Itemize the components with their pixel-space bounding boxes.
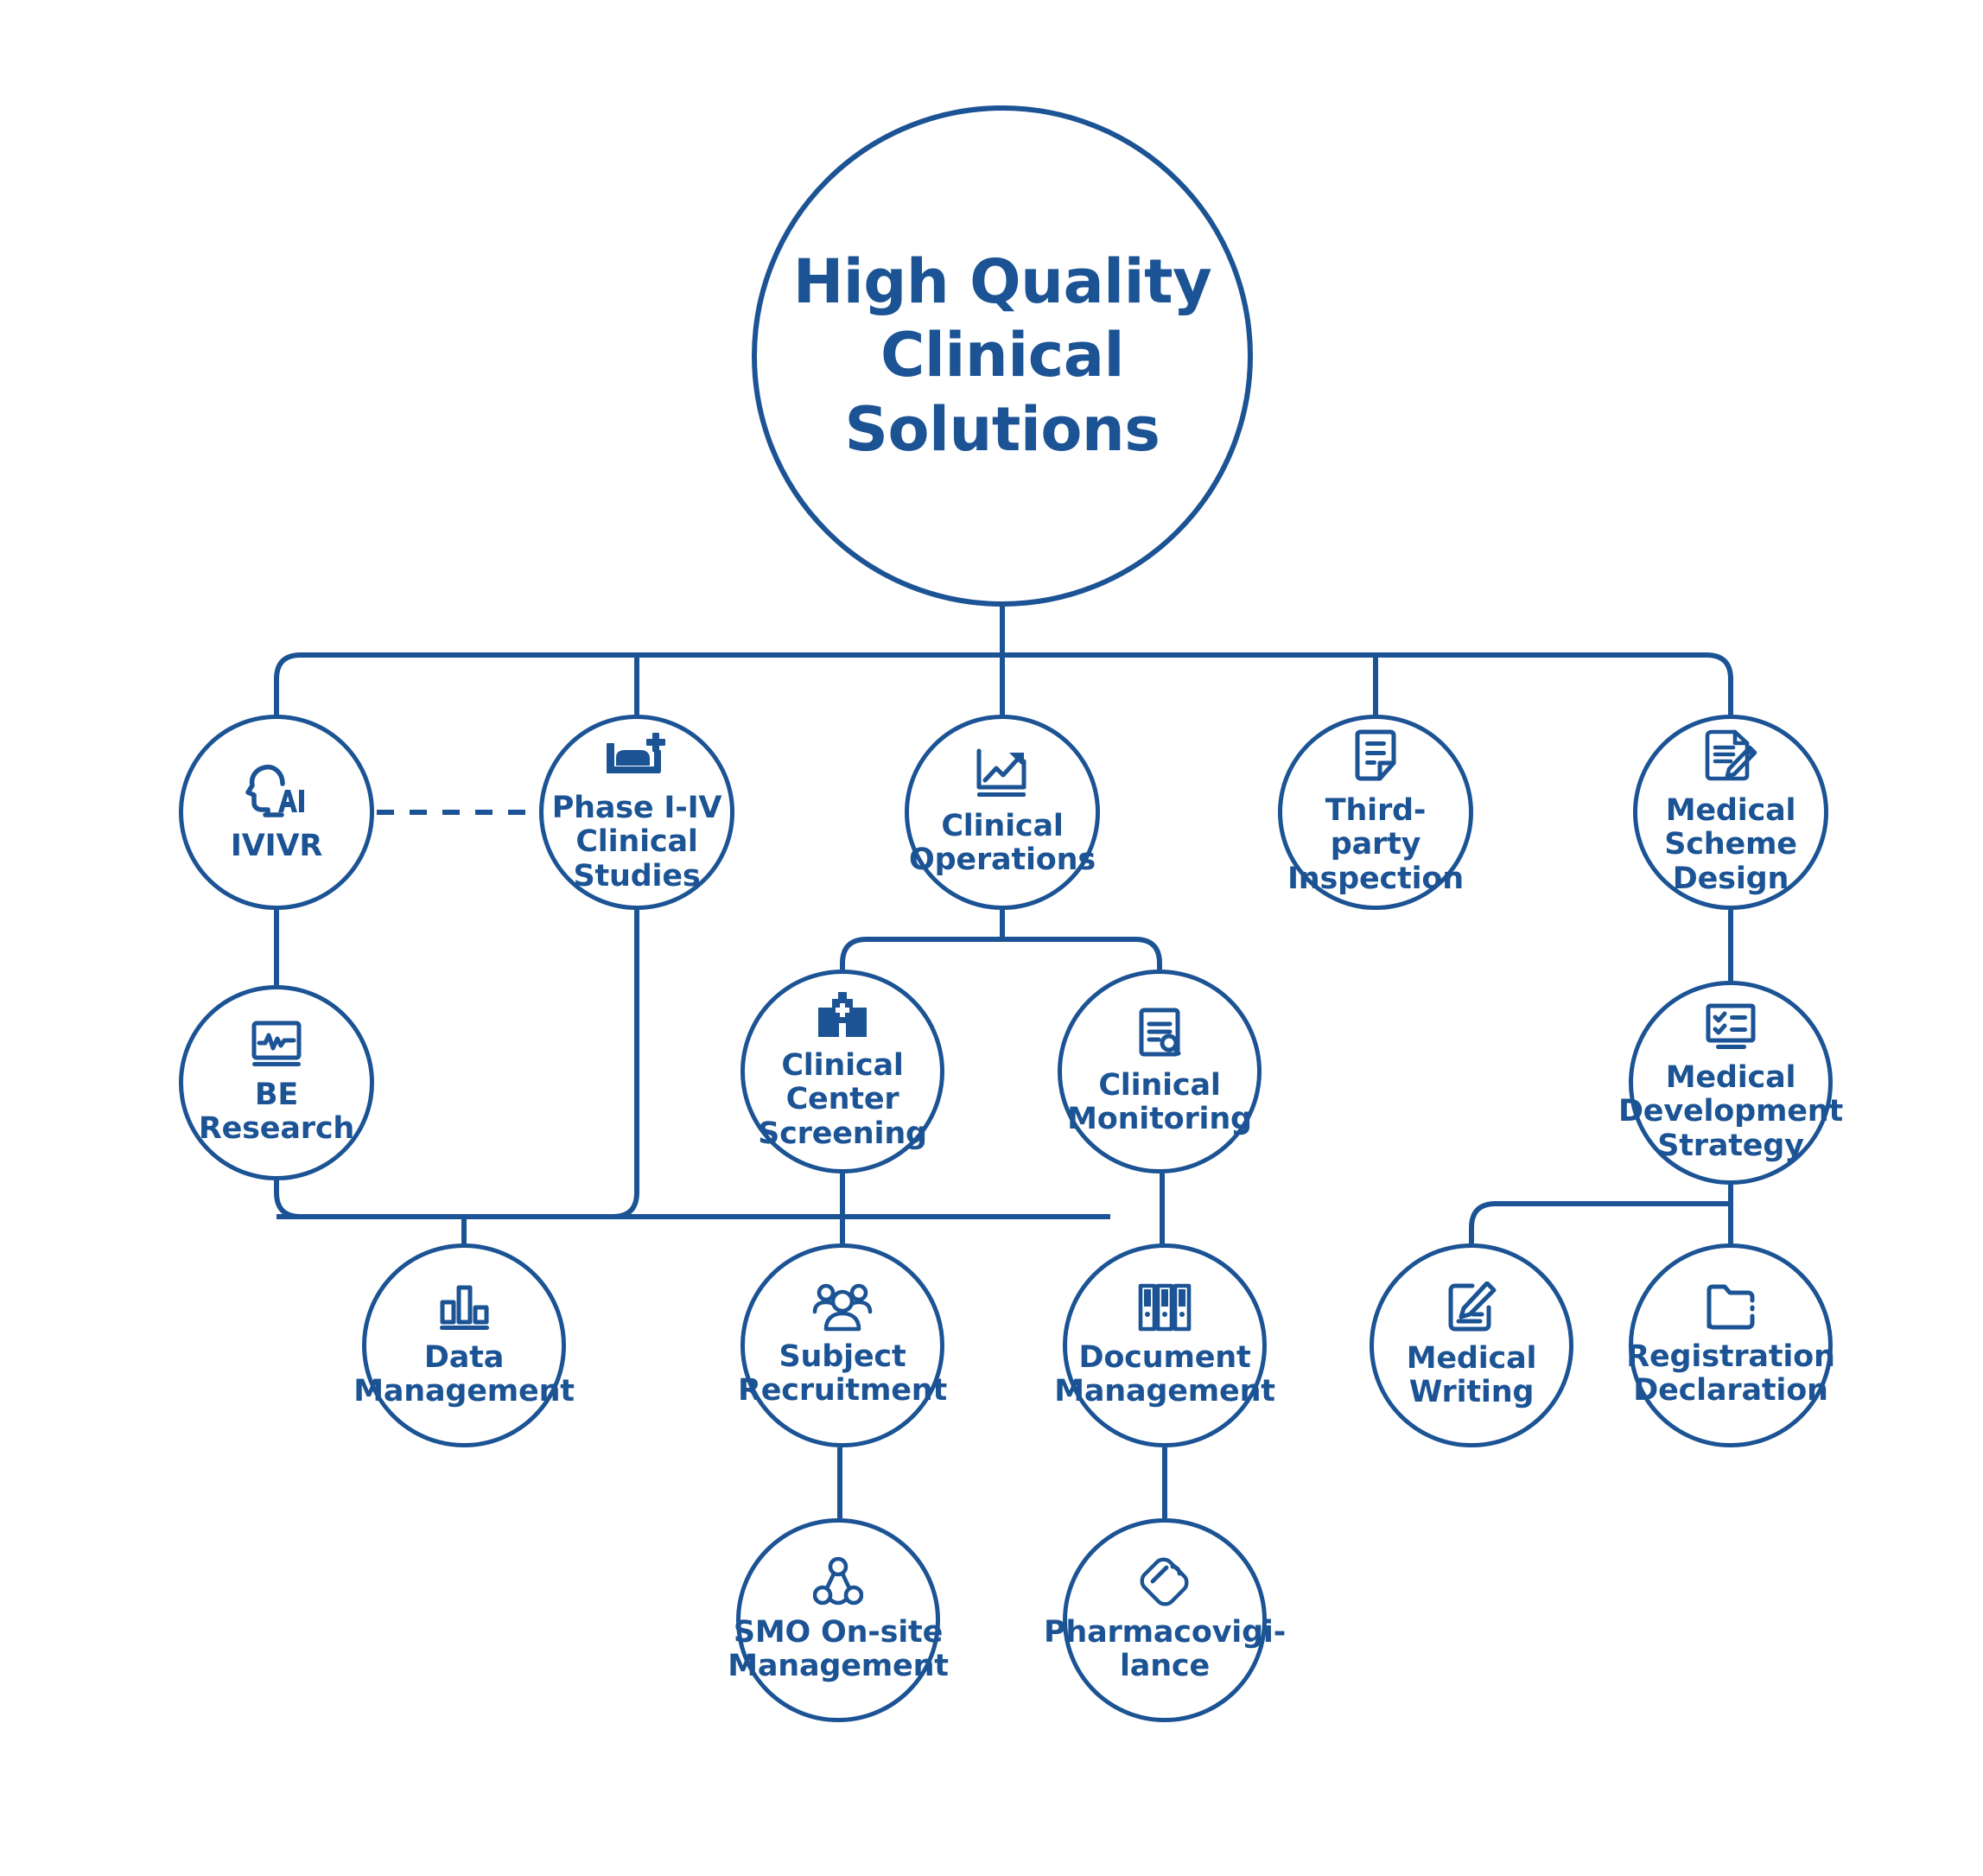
node-smo-label: SMO On-site Management: [728, 1616, 949, 1683]
node-phase-i-iv-clinical-studies[interactable]: Phase I-IV Clinical Studies: [539, 715, 734, 910]
node-medical-writing[interactable]: Medical Writing: [1370, 1243, 1573, 1447]
node-data-management[interactable]: Data Management: [362, 1243, 566, 1447]
node-medical-writing-label: Medical Writing: [1407, 1342, 1537, 1409]
node-ivivr-label: IVIVR: [231, 830, 322, 863]
document-lines-icon: [1352, 728, 1399, 785]
diagram-canvas: High Quality Clinical Solutions IVIVR: [0, 0, 1983, 1876]
binders-icon: [1138, 1282, 1192, 1332]
node-root-label: High Quality Clinical Solutions: [793, 245, 1212, 467]
node-medical-scheme-design-label: Medical Scheme Design: [1664, 794, 1797, 896]
people-group-icon: [812, 1283, 873, 1332]
document-pen-icon: [1702, 728, 1759, 785]
checklist-monitor-icon: [1704, 1002, 1757, 1052]
node-subject-recruitment-label: Subject Recruitment: [738, 1340, 947, 1408]
node-document-management-label: Document Management: [1054, 1341, 1275, 1409]
node-subject-recruitment[interactable]: Subject Recruitment: [740, 1243, 944, 1447]
node-clinical-monitoring[interactable]: Clinical Monitoring: [1058, 970, 1262, 1173]
node-be-research[interactable]: BE Research: [179, 985, 374, 1180]
node-root[interactable]: High Quality Clinical Solutions: [752, 105, 1253, 607]
node-pharmacovigilance[interactable]: Pharmacovigi- lance: [1063, 1518, 1267, 1722]
node-medical-scheme-design[interactable]: Medical Scheme Design: [1633, 715, 1828, 910]
edge-clinical-operations-bus: [842, 939, 1160, 970]
node-clinical-monitoring-label: Clinical Monitoring: [1067, 1069, 1252, 1136]
node-smo-on-site-management[interactable]: SMO On-site Management: [736, 1518, 940, 1722]
node-clinical-operations[interactable]: Clinical Operations: [905, 715, 1100, 910]
node-pharmacovigilance-label: Pharmacovigi- lance: [1044, 1616, 1286, 1683]
hospital-bed-icon: [603, 731, 671, 783]
node-phase-label: Phase I-IV Clinical Studies: [552, 792, 722, 893]
node-clinical-center-screening-label: Clinical Center Screening: [745, 1049, 940, 1151]
node-third-party-inspection[interactable]: Third-party Inspection: [1278, 715, 1473, 910]
node-clinical-center-screening[interactable]: Clinical Center Screening: [740, 970, 944, 1173]
node-registration-declaration[interactable]: Registration Declaration: [1629, 1243, 1833, 1447]
network-nodes-icon: [813, 1557, 863, 1607]
edge-strategy-to-medical-writing: [1471, 1204, 1731, 1243]
ai-head-icon: [245, 760, 308, 821]
hospital-building-icon: [816, 992, 869, 1040]
ecg-monitor-icon: [250, 1020, 303, 1070]
node-medical-development-strategy[interactable]: Medical Development Strategy: [1629, 981, 1833, 1185]
document-search-icon: [1136, 1007, 1183, 1060]
node-data-management-label: Data Management: [353, 1341, 575, 1409]
folder-icon: [1704, 1283, 1757, 1332]
trend-chart-icon: [974, 747, 1031, 801]
node-third-party-label: Third-party Inspection: [1282, 794, 1469, 896]
node-medical-development-strategy-label: Medical Development Strategy: [1618, 1061, 1843, 1163]
node-be-research-label: BE Research: [199, 1078, 354, 1146]
pen-notepad-icon: [1446, 1281, 1497, 1333]
node-document-management[interactable]: Document Management: [1063, 1243, 1267, 1447]
edge-be-research-to-lowbus: [276, 1180, 1110, 1217]
capsule-pill-icon: [1140, 1557, 1190, 1607]
node-clinical-operations-label: Clinical Operations: [909, 810, 1096, 877]
bar-chart-icon: [438, 1282, 490, 1332]
node-ivivr[interactable]: IVIVR: [179, 715, 374, 910]
node-registration-declaration-label: Registration Declaration: [1626, 1340, 1834, 1408]
